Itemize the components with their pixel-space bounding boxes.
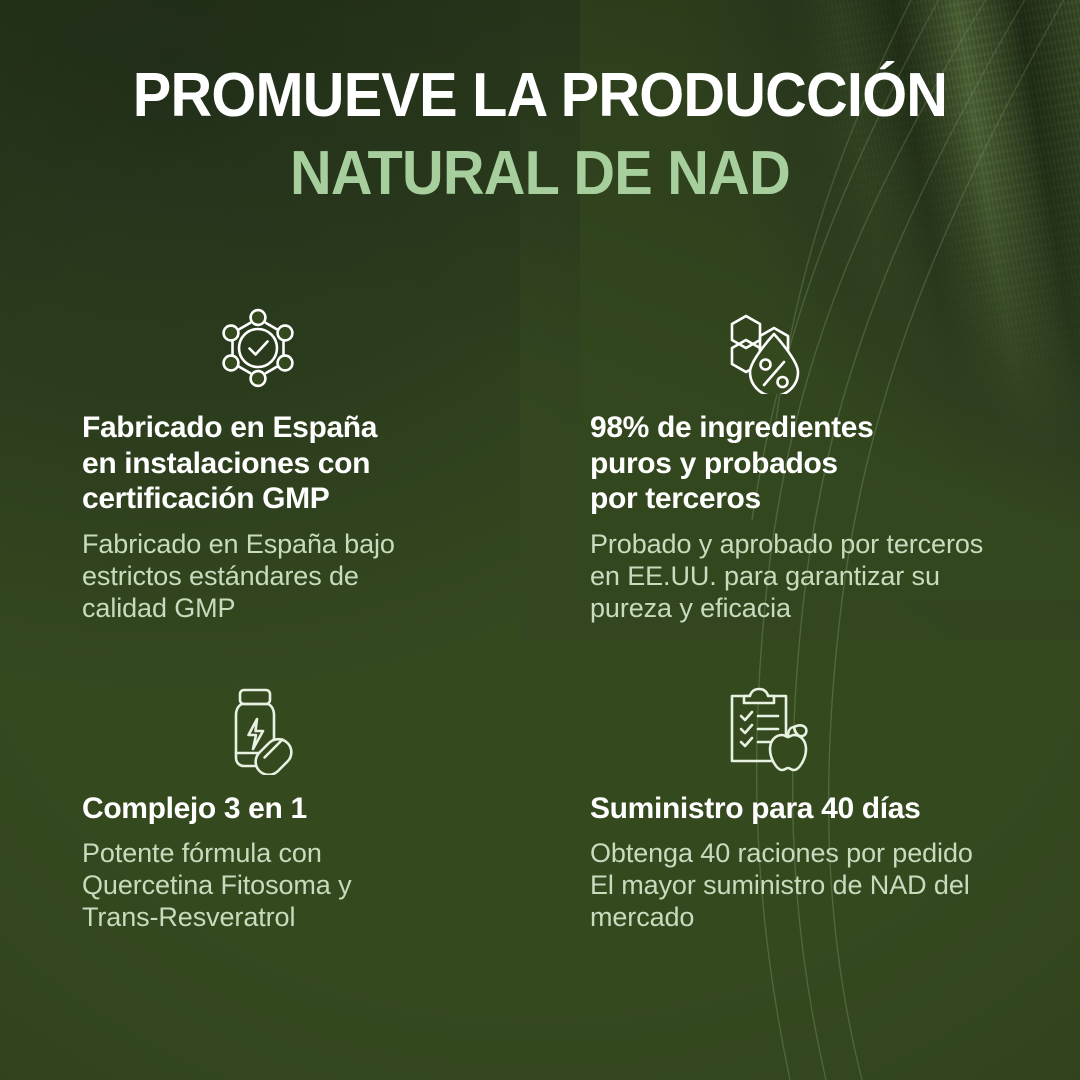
feature-title: Complejo 3 en 1	[82, 791, 590, 827]
feature-title: 98% de ingredientes puros y probados por…	[590, 410, 998, 517]
page-title: PROMUEVE LA PRODUCCIÓN NATURAL DE NAD	[0, 65, 1080, 205]
feature-item-gmp: Fabricado en España en instalaciones con…	[82, 296, 590, 625]
feature-icon-slot	[590, 296, 998, 400]
feature-icon-slot	[82, 677, 590, 781]
molecule-check-icon	[212, 302, 304, 394]
clipboard-checklist-apple-icon	[720, 683, 812, 775]
feature-grid: Fabricado en España en instalaciones con…	[82, 296, 998, 934]
feature-title: Suministro para 40 días	[590, 791, 998, 827]
feature-description: Probado y aprobado por terceros en EE.UU…	[590, 529, 998, 625]
feature-icon-slot	[590, 677, 998, 781]
feature-icon-slot	[82, 296, 590, 400]
headline-line-primary: PROMUEVE LA PRODUCCIÓN	[38, 65, 1042, 127]
feature-item-purity: 98% de ingredientes puros y probados por…	[590, 296, 998, 625]
honeycomb-droplet-percent-icon	[720, 302, 812, 394]
supplement-bottle-capsule-icon	[212, 683, 304, 775]
feature-description: Potente fórmula con Quercetina Fitosoma …	[82, 838, 590, 934]
feature-description: Fabricado en España bajo estrictos están…	[82, 529, 590, 625]
feature-description: Obtenga 40 raciones por pedido El mayor …	[590, 838, 998, 934]
headline-line-accent: NATURAL DE NAD	[38, 143, 1042, 205]
promo-poster: PROMUEVE LA PRODUCCIÓN NATURAL DE NAD	[0, 0, 1080, 1080]
feature-item-supply: Suministro para 40 días Obtenga 40 racio…	[590, 677, 998, 934]
feature-title: Fabricado en España en instalaciones con…	[82, 410, 590, 517]
feature-item-complex: Complejo 3 en 1 Potente fórmula con Quer…	[82, 677, 590, 934]
